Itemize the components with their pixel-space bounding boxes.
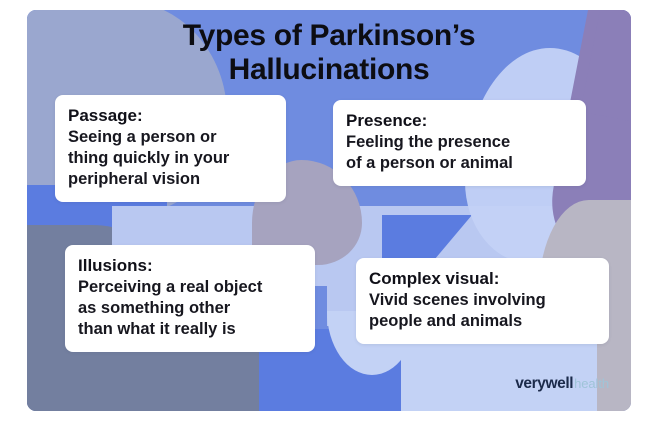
brand-logo-secondary: health <box>574 376 609 391</box>
brand-logo: verywell health <box>515 375 609 393</box>
card-complex-visual-body: Vivid scenes involving people and animal… <box>369 290 596 332</box>
card-illusions: Illusions: Perceiving a real object as s… <box>65 245 315 352</box>
card-passage: Passage: Seeing a person or thing quickl… <box>55 95 286 202</box>
card-complex-visual-title: Complex visual: <box>369 268 596 290</box>
card-illusions-body: Perceiving a real object as something ot… <box>78 277 302 340</box>
pale-band-bottom-right <box>401 335 611 411</box>
page-title: Types of Parkinson’s Hallucinations <box>27 19 631 87</box>
infographic-canvas: Types of Parkinson’s Hallucinations Pass… <box>27 10 631 411</box>
card-passage-body: Seeing a person or thing quickly in your… <box>68 127 273 190</box>
card-presence-title: Presence: <box>346 110 573 132</box>
card-presence-body: Feeling the presence of a person or anim… <box>346 132 573 174</box>
card-complex-visual: Complex visual: Vivid scenes involving p… <box>356 258 609 344</box>
card-illusions-title: Illusions: <box>78 255 302 277</box>
card-presence: Presence: Feeling the presence of a pers… <box>333 100 586 186</box>
brand-logo-primary: verywell <box>515 375 573 393</box>
card-passage-title: Passage: <box>68 105 273 127</box>
